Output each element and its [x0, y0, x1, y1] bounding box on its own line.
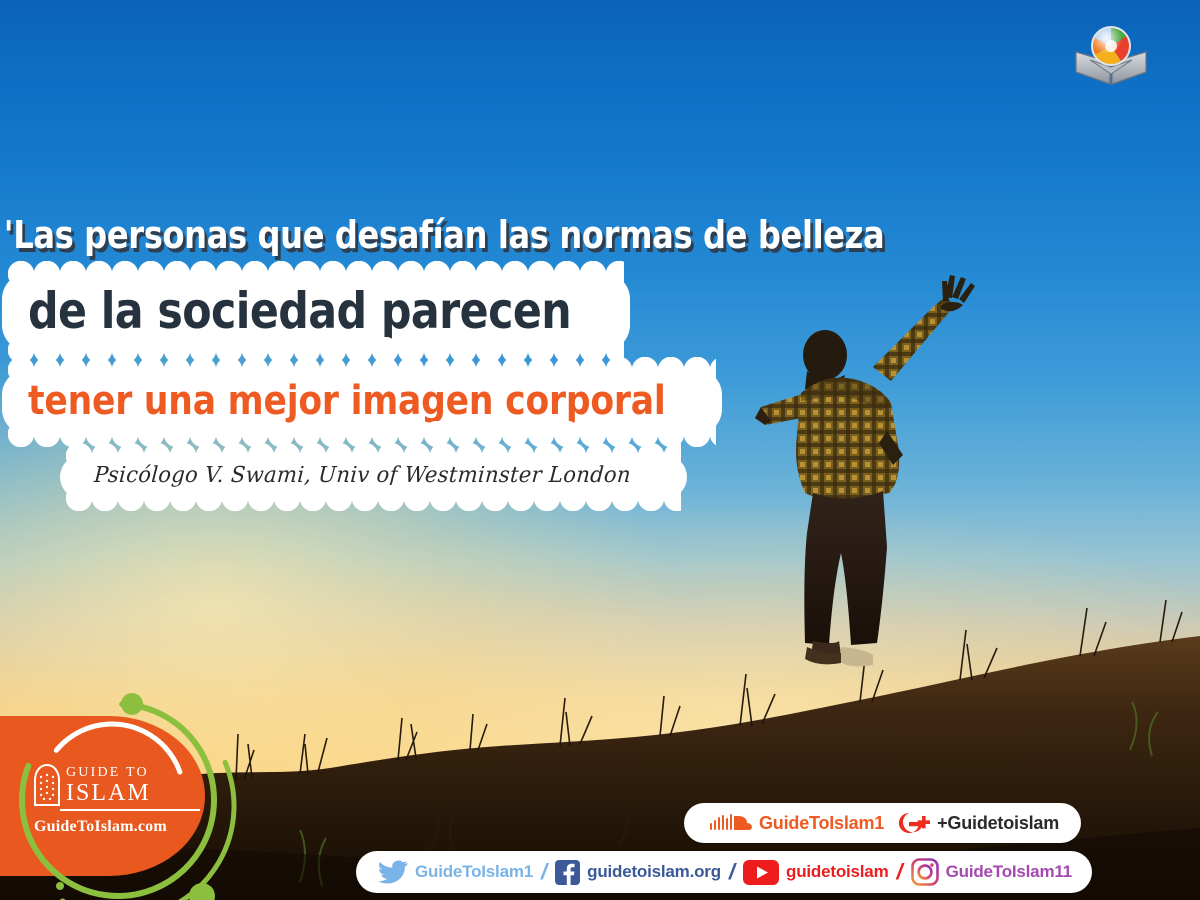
social-item-twitter[interactable]: GuideToIslam1 [378, 860, 533, 884]
attribution-text: Psicólogo V. Swami, Univ of Westminster … [93, 464, 631, 488]
facebook-icon [555, 860, 580, 885]
quote-line-3-panel: tener una mejor imagen corporal [2, 369, 722, 435]
brand-website[interactable]: GuideToIslam.com [34, 818, 194, 836]
social-item-googleplus[interactable]: +Guidetoislam [898, 811, 1059, 835]
youtube-handle: guidetoislam [786, 862, 888, 882]
man-silhouette-arms-raised [755, 235, 1055, 705]
soundcloud-icon [710, 812, 752, 834]
quote-line-1: 'Las personas que desafían las normas de… [0, 215, 733, 257]
google-plus-icon [898, 811, 930, 835]
facebook-handle: guidetoislam.org [587, 862, 721, 882]
instagram-icon [911, 858, 939, 886]
googleplus-handle: +Guidetoislam [937, 813, 1059, 834]
youtube-icon [743, 860, 779, 885]
attribution-panel: Psicólogo V. Swami, Univ of Westminster … [60, 455, 687, 499]
instagram-handle: GuideToIslam11 [946, 862, 1072, 882]
quote-line-2: de la sociedad parecen [28, 285, 571, 337]
twitter-icon [378, 860, 408, 884]
separator-1: / [540, 859, 548, 885]
brand-badge[interactable]: GUIDE TO ISLAM GuideToIslam.com [0, 716, 212, 876]
separator-2: / [728, 859, 736, 885]
social-item-facebook[interactable]: guidetoislam.org [555, 860, 721, 885]
social-bar-bottom: GuideToIslam1 / guidetoislam.org / guide… [356, 851, 1092, 893]
social-bar-top: GuideToIslam1 +Guidetoislam [684, 803, 1081, 843]
poster-canvas: 'Las personas que desafían las normas de… [0, 0, 1200, 900]
separator-3: / [895, 859, 903, 885]
social-item-instagram[interactable]: GuideToIslam11 [911, 858, 1072, 886]
social-item-soundcloud[interactable]: GuideToIslam1 [710, 812, 884, 834]
brand-lockup: GUIDE TO ISLAM GuideToIslam.com [34, 764, 194, 836]
twitter-handle: GuideToIslam1 [415, 862, 533, 882]
quote-line-2-panel: de la sociedad parecen [2, 273, 630, 351]
mosque-arch-icon [34, 764, 60, 806]
brand-name-top: GUIDE TO [66, 766, 151, 780]
brand-name-bottom: ISLAM [66, 781, 151, 805]
globe-over-open-book-logo [1070, 18, 1152, 90]
quote-block: 'Las personas que desafían las normas de… [0, 215, 780, 499]
social-item-youtube[interactable]: guidetoislam [743, 860, 888, 885]
brand-divider [60, 809, 200, 811]
quote-line-3: tener una mejor imagen corporal [28, 380, 666, 422]
soundcloud-handle: GuideToIslam1 [759, 813, 884, 834]
